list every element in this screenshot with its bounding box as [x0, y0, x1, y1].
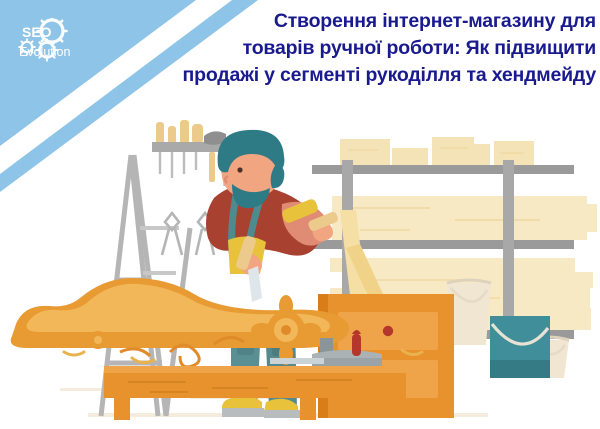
- headline-line-2: товарів ручної роботи: Як підвищити: [40, 35, 596, 62]
- workbench-leg-left: [114, 398, 130, 420]
- banner-canvas: SEO Evolution Створення інтернет-магазин…: [0, 0, 600, 429]
- carved-flower-left: [89, 331, 107, 349]
- saw-blade: [270, 358, 324, 364]
- banner-headline: Створення інтернет-магазину для товарів …: [40, 8, 596, 89]
- carved-rosette: [251, 295, 321, 365]
- bucket-teal: [490, 316, 550, 378]
- headline-line-3: продажі у сегменті рукоділля та хендмейд…: [40, 62, 596, 89]
- chisel-handles: [156, 120, 203, 144]
- illustration-woodworker-scene: [0, 108, 600, 429]
- headline-line-1: Створення інтернет-магазину для: [40, 8, 596, 35]
- plank-middle: [332, 196, 587, 240]
- workbench-leg-right: [300, 398, 316, 420]
- caliper-left: [162, 213, 182, 255]
- drawer-knob-top: [383, 326, 393, 336]
